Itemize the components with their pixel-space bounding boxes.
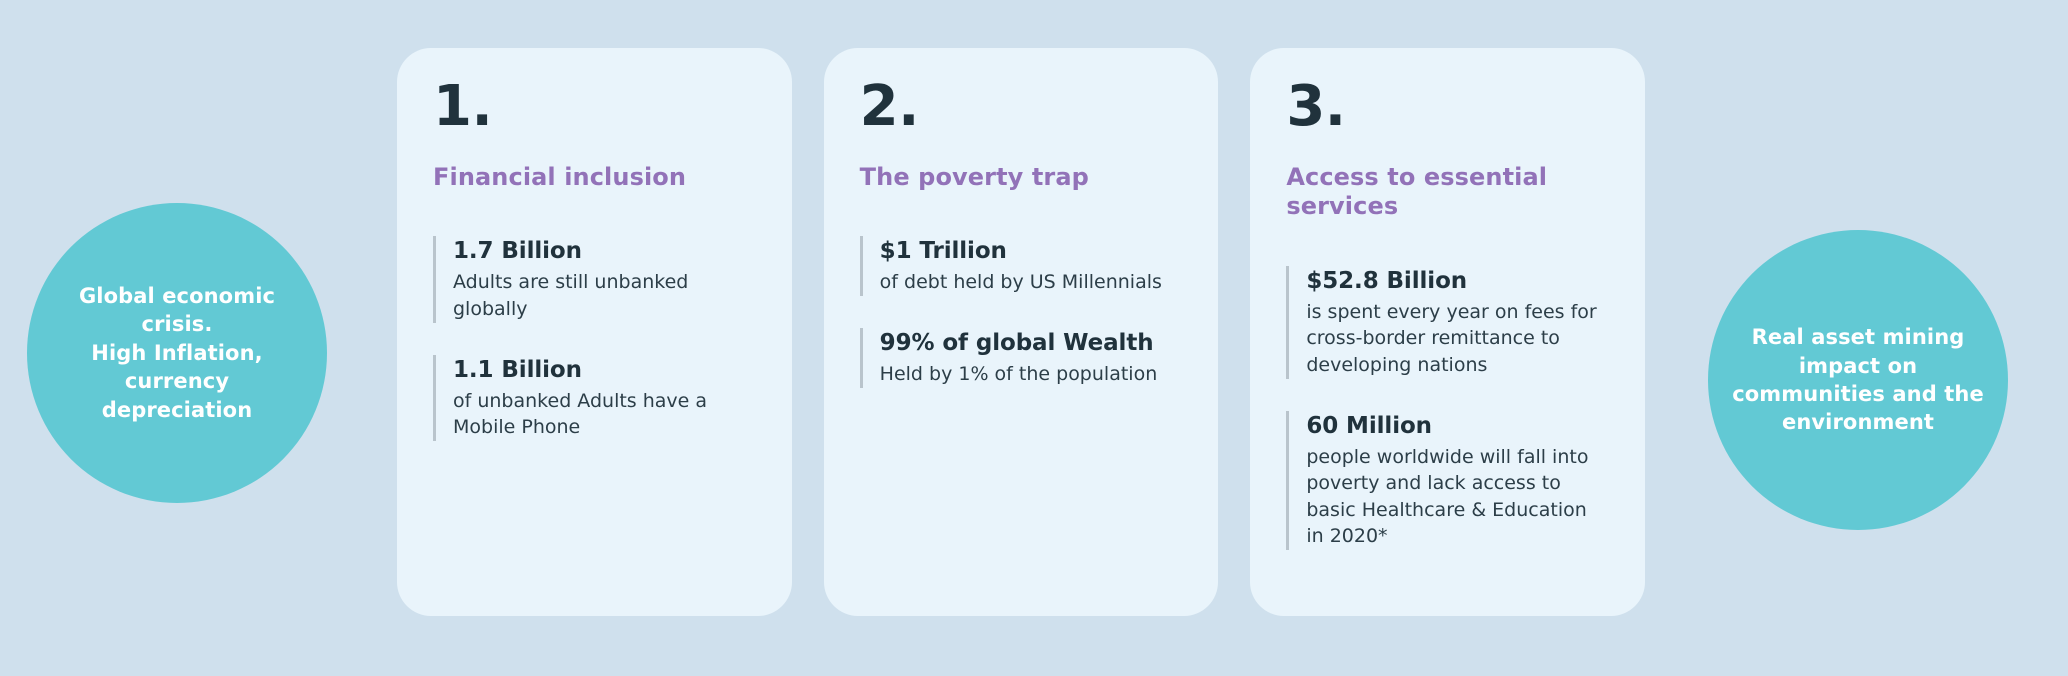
right-context-circle: Real asset mining impact on communities …	[1708, 230, 2008, 530]
stat-description: of unbanked Adults have a Mobile Phone	[453, 388, 756, 441]
left-circle-text: Global economic crisis. High Inflation, …	[49, 282, 305, 424]
stat-value: $1 Trillion	[880, 236, 1183, 267]
stat-item: 1.7 Billion Adults are still unbanked gl…	[433, 236, 756, 322]
stat-list: $52.8 Billion is spent every year on fee…	[1286, 266, 1609, 550]
stat-description: Held by 1% of the population	[880, 361, 1183, 388]
card-number: 3.	[1286, 78, 1609, 137]
stat-item: 1.1 Billion of unbanked Adults have a Mo…	[433, 355, 756, 441]
card-access-to-essential-services: 3. Access to essential services $52.8 Bi…	[1250, 48, 1645, 616]
stat-item: $52.8 Billion is spent every year on fee…	[1286, 266, 1609, 379]
cards-row: 1. Financial inclusion 1.7 Billion Adult…	[397, 48, 1645, 616]
card-title: The poverty trap	[860, 163, 1130, 193]
stat-value: 60 Million	[1306, 411, 1609, 442]
card-number: 2.	[860, 78, 1183, 137]
right-circle-text: Real asset mining impact on communities …	[1730, 323, 1986, 436]
stat-description: Adults are still unbanked globally	[453, 269, 756, 322]
stat-item: 99% of global Wealth Held by 1% of the p…	[860, 328, 1183, 388]
stat-description: people worldwide will fall into poverty …	[1306, 444, 1609, 550]
stat-value: 1.1 Billion	[453, 355, 756, 386]
stat-description: is spent every year on fees for cross-bo…	[1306, 299, 1609, 379]
stat-list: 1.7 Billion Adults are still unbanked gl…	[433, 236, 756, 440]
stat-value: 99% of global Wealth	[880, 328, 1183, 359]
card-title: Access to essential services	[1286, 163, 1556, 222]
stat-value: $52.8 Billion	[1306, 266, 1609, 297]
card-title: Financial inclusion	[433, 163, 703, 193]
stat-description: of debt held by US Millennials	[880, 269, 1183, 296]
left-context-circle: Global economic crisis. High Inflation, …	[27, 203, 327, 503]
infographic-stage: Global economic crisis. High Inflation, …	[0, 0, 2068, 676]
stat-list: $1 Trillion of debt held by US Millennia…	[860, 236, 1183, 387]
stat-item: $1 Trillion of debt held by US Millennia…	[860, 236, 1183, 296]
card-number: 1.	[433, 78, 756, 137]
card-poverty-trap: 2. The poverty trap $1 Trillion of debt …	[824, 48, 1219, 616]
stat-item: 60 Million people worldwide will fall in…	[1286, 411, 1609, 550]
card-financial-inclusion: 1. Financial inclusion 1.7 Billion Adult…	[397, 48, 792, 616]
stat-value: 1.7 Billion	[453, 236, 756, 267]
